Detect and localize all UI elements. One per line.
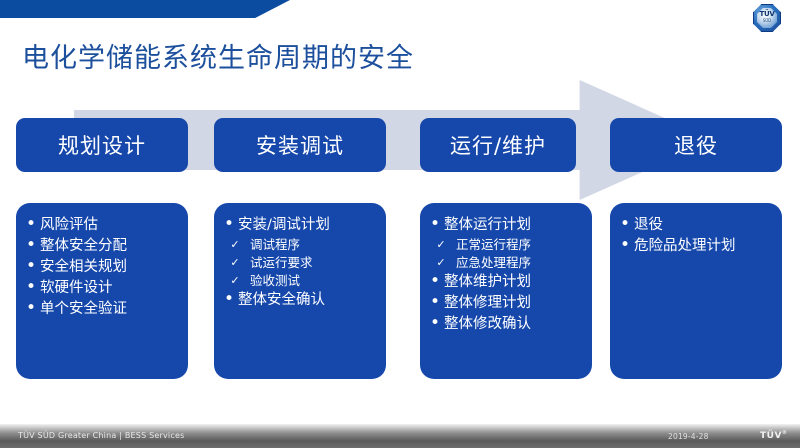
tuv-logo-subtext: SÜD bbox=[753, 18, 781, 23]
bullet-list: •退役•危险品处理计划 bbox=[616, 215, 776, 256]
item-label: 验收测试 bbox=[242, 272, 380, 289]
registered-mark: ® bbox=[782, 430, 788, 436]
stage-content-installation: •安装/调试计划✓调试程序✓试运行要求✓验收测试•整体安全确认 bbox=[214, 203, 386, 379]
stage-header-label: 安装调试 bbox=[256, 130, 344, 160]
bullet-item: •整体修理计划 bbox=[426, 293, 586, 313]
footer-source-text: TÜV SÜD Greater China | BESS Services bbox=[18, 431, 184, 440]
footer-brand-label: TÜV bbox=[760, 431, 782, 441]
bullet-dot-icon: • bbox=[616, 236, 634, 255]
item-label: 风险评估 bbox=[40, 215, 182, 235]
item-label: 危险品处理计划 bbox=[634, 236, 776, 256]
stage-header-decommission[interactable]: 退役 bbox=[610, 118, 782, 172]
bullet-list: •风险评估•整体安全分配•安全相关规划•软硬件设计•单个安全验证 bbox=[22, 215, 182, 319]
item-label: 软硬件设计 bbox=[40, 278, 182, 298]
tuv-logo-wordmark: TÜV bbox=[753, 10, 781, 18]
item-label: 单个安全验证 bbox=[40, 299, 182, 319]
check-icon: ✓ bbox=[228, 272, 242, 289]
bullet-item: •危险品处理计划 bbox=[616, 236, 776, 256]
bullet-dot-icon: • bbox=[426, 293, 444, 312]
bullet-dot-icon: • bbox=[426, 272, 444, 291]
item-label: 正常运行程序 bbox=[448, 236, 586, 253]
checklist-item: ✓正常运行程序 bbox=[426, 236, 586, 253]
bullet-list: •安装/调试计划✓调试程序✓试运行要求✓验收测试•整体安全确认 bbox=[220, 215, 380, 310]
item-label: 调试程序 bbox=[242, 236, 380, 253]
bullet-item: •风险评估 bbox=[22, 215, 182, 235]
bullet-dot-icon: • bbox=[22, 236, 40, 255]
slide-canvas: TÜV SÜD 电化学储能系统生命周期的安全 规划设计 安装调试 运行/维护 退… bbox=[0, 0, 800, 448]
bullet-dot-icon: • bbox=[220, 215, 238, 234]
check-icon: ✓ bbox=[434, 236, 448, 253]
footer-tuv-brand-icon: TÜV® bbox=[760, 430, 787, 441]
footer-date: 2019-4-28 bbox=[668, 432, 709, 441]
item-label: 整体维护计划 bbox=[444, 272, 586, 292]
bullet-dot-icon: • bbox=[22, 278, 40, 297]
bullet-item: •软硬件设计 bbox=[22, 278, 182, 298]
bullet-item: •整体安全分配 bbox=[22, 236, 182, 256]
page-title: 电化学储能系统生命周期的安全 bbox=[22, 36, 414, 75]
tuv-sud-logo-icon: TÜV SÜD bbox=[753, 4, 781, 32]
check-icon: ✓ bbox=[434, 254, 448, 271]
check-icon: ✓ bbox=[228, 236, 242, 253]
checklist-item: ✓试运行要求 bbox=[220, 254, 380, 271]
item-label: 整体安全确认 bbox=[238, 290, 380, 310]
item-label: 整体修改确认 bbox=[444, 314, 586, 334]
bullet-dot-icon: • bbox=[22, 257, 40, 276]
bullet-item: •安装/调试计划 bbox=[220, 215, 380, 235]
bullet-item: •整体维护计划 bbox=[426, 272, 586, 292]
stage-header-installation[interactable]: 安装调试 bbox=[214, 118, 386, 172]
checklist-item: ✓应急处理程序 bbox=[426, 254, 586, 271]
bullet-dot-icon: • bbox=[22, 215, 40, 234]
item-label: 应急处理程序 bbox=[448, 254, 586, 271]
bullet-item: •整体安全确认 bbox=[220, 290, 380, 310]
item-label: 整体安全分配 bbox=[40, 236, 182, 256]
item-label: 退役 bbox=[634, 215, 776, 235]
bullet-item: •整体运行计划 bbox=[426, 215, 586, 235]
stage-content-decommission: •退役•危险品处理计划 bbox=[610, 203, 782, 379]
item-label: 整体修理计划 bbox=[444, 293, 586, 313]
stage-header-label: 退役 bbox=[674, 130, 718, 160]
bullet-dot-icon: • bbox=[22, 299, 40, 318]
bullet-dot-icon: • bbox=[616, 215, 634, 234]
bullet-list: •整体运行计划✓正常运行程序✓应急处理程序•整体维护计划•整体修理计划•整体修改… bbox=[426, 215, 586, 334]
stage-content-planning: •风险评估•整体安全分配•安全相关规划•软硬件设计•单个安全验证 bbox=[16, 203, 188, 379]
stage-content-operation: •整体运行计划✓正常运行程序✓应急处理程序•整体维护计划•整体修理计划•整体修改… bbox=[420, 203, 592, 379]
bullet-dot-icon: • bbox=[426, 215, 444, 234]
item-label: 安装/调试计划 bbox=[238, 215, 380, 235]
stage-header-operation[interactable]: 运行/维护 bbox=[420, 118, 576, 172]
checklist-item: ✓调试程序 bbox=[220, 236, 380, 253]
bullet-dot-icon: • bbox=[220, 290, 238, 309]
check-icon: ✓ bbox=[228, 254, 242, 271]
item-label: 安全相关规划 bbox=[40, 257, 182, 277]
bullet-item: •单个安全验证 bbox=[22, 299, 182, 319]
item-label: 试运行要求 bbox=[242, 254, 380, 271]
bullet-dot-icon: • bbox=[426, 314, 444, 333]
bullet-item: •安全相关规划 bbox=[22, 257, 182, 277]
stage-header-label: 规划设计 bbox=[58, 130, 146, 160]
checklist-item: ✓验收测试 bbox=[220, 272, 380, 289]
stage-header-planning[interactable]: 规划设计 bbox=[16, 118, 188, 172]
bullet-item: •整体修改确认 bbox=[426, 314, 586, 334]
top-accent-bar bbox=[0, 0, 290, 18]
item-label: 整体运行计划 bbox=[444, 215, 586, 235]
bullet-item: •退役 bbox=[616, 215, 776, 235]
stage-header-label: 运行/维护 bbox=[450, 130, 546, 160]
